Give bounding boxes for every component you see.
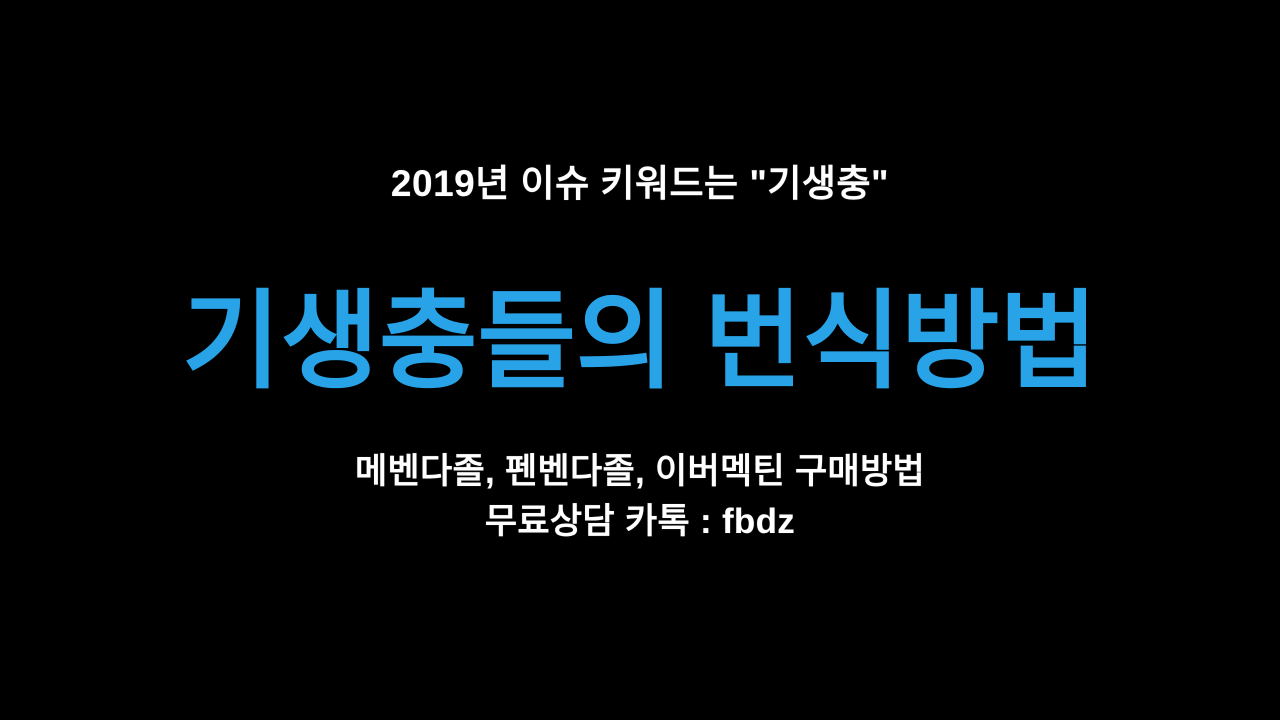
subtitle-line-contact: 무료상담 카톡 : fbdz (485, 498, 795, 546)
headline-text: 기생충들의 번식방법 (0, 278, 1280, 404)
title-card-slide: 2019년 이슈 키워드는 "기생충" 기생충들의 번식방법 메벤다졸, 펜벤다… (0, 0, 1280, 720)
subtitle-line-products: 메벤다졸, 펜벤다졸, 이버멕틴 구매방법 (355, 448, 925, 496)
eyebrow-text: 2019년 이슈 키워드는 "기생충" (0, 160, 1280, 208)
subtitle-block: 메벤다졸, 펜벤다졸, 이버멕틴 구매방법 무료상담 카톡 : fbdz (0, 448, 1280, 546)
